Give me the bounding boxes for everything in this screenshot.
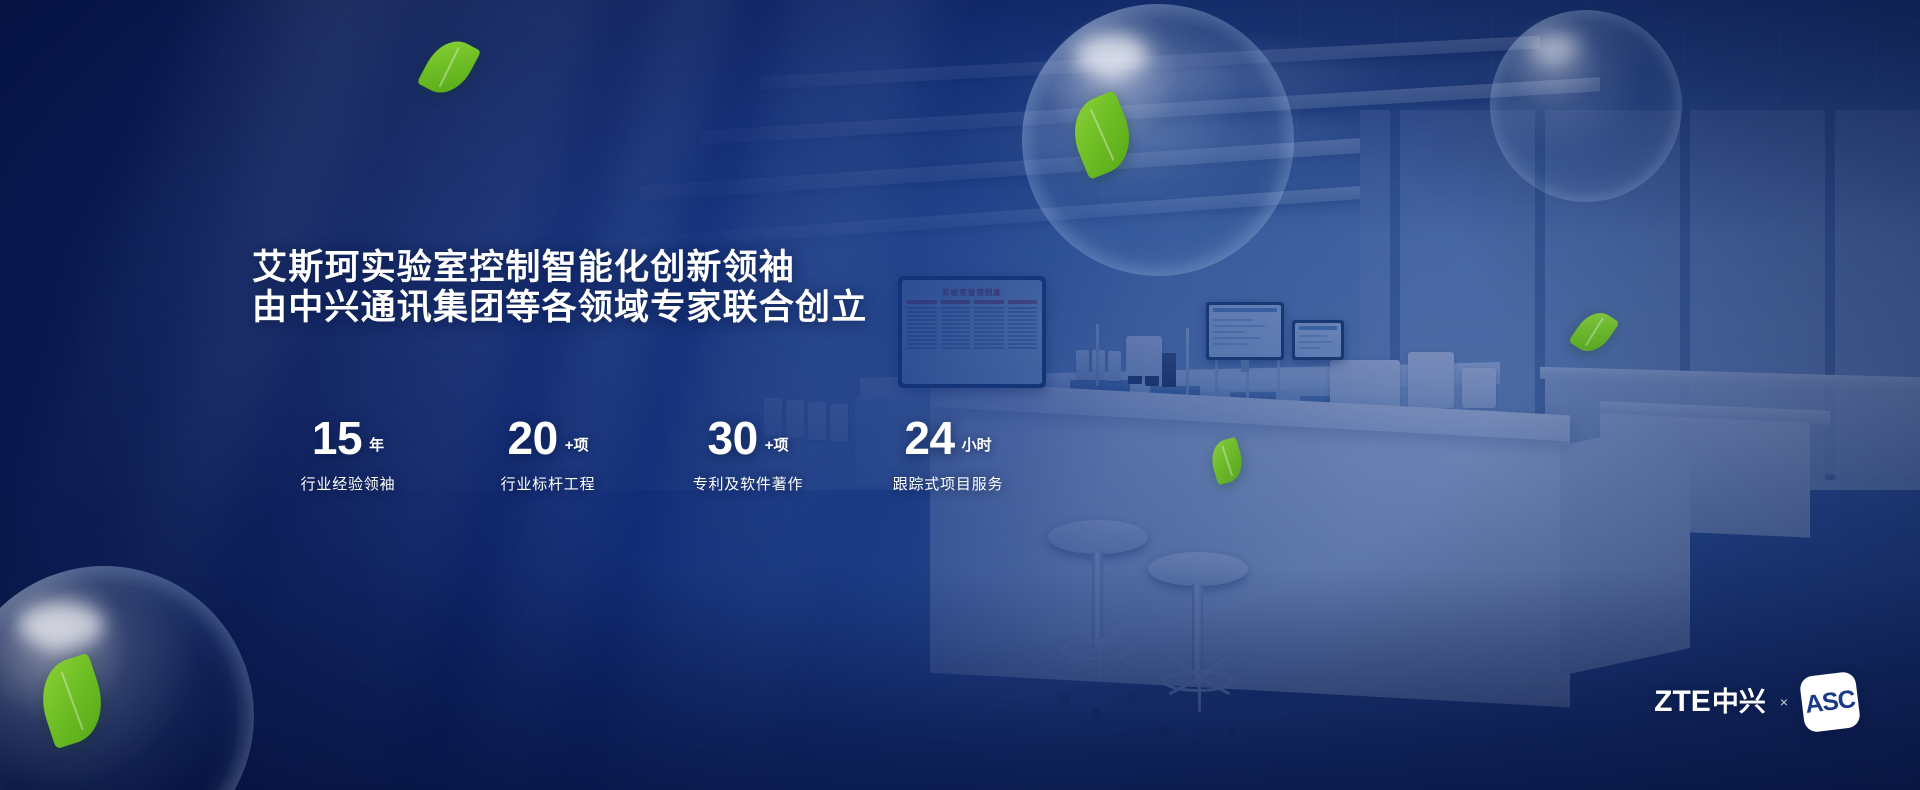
headline-line-1: 艾斯珂实验室控制智能化创新领袖 <box>252 248 1012 288</box>
stat-unit: 小时 <box>962 434 992 455</box>
stat-caption: 行业标杆工程 <box>448 473 648 494</box>
asc-logo: ASC <box>1799 671 1861 733</box>
headline-block: 艾斯珂实验室控制智能化创新领袖 由中兴通讯集团等各领域专家联合创立 <box>252 248 1012 328</box>
banner-content: 艾斯珂实验室控制智能化创新领袖 由中兴通讯集团等各领域专家联合创立 15 年 行… <box>0 0 1920 790</box>
stats-row: 15 年 行业经验领袖 20 +项 行业标杆工程 30 +项 专利及软件著作 <box>248 415 1048 494</box>
stat-number: 24 <box>904 415 954 461</box>
stat-number: 20 <box>508 415 558 461</box>
stat-caption: 跟踪式项目服务 <box>848 473 1048 494</box>
logo-separator-icon: × <box>1780 694 1788 710</box>
stat-number: 30 <box>708 415 758 461</box>
stat-caption: 专利及软件著作 <box>648 473 848 494</box>
zte-logo-latin: ZTE <box>1654 685 1711 718</box>
zte-logo: ZTE中兴 <box>1654 687 1766 717</box>
stat-caption: 行业经验领袖 <box>248 473 448 494</box>
headline-line-2: 由中兴通讯集团等各领域专家联合创立 <box>252 288 1012 328</box>
stat-item: 24 小时 跟踪式项目服务 <box>848 415 1048 494</box>
stat-item: 15 年 行业经验领袖 <box>248 415 448 494</box>
stat-number: 15 <box>312 415 362 461</box>
stat-item: 20 +项 行业标杆工程 <box>448 415 648 494</box>
stat-unit: 年 <box>369 434 384 455</box>
stat-unit: +项 <box>765 434 789 455</box>
stat-unit: +项 <box>565 434 589 455</box>
hero-banner: 实验室管理制度 <box>0 0 1920 790</box>
stat-item: 30 +项 专利及软件著作 <box>648 415 848 494</box>
logo-lockup: ZTE中兴 × ASC <box>1654 674 1858 730</box>
asc-logo-text: ASC <box>1804 685 1857 720</box>
zte-logo-chinese: 中兴 <box>1712 687 1766 717</box>
